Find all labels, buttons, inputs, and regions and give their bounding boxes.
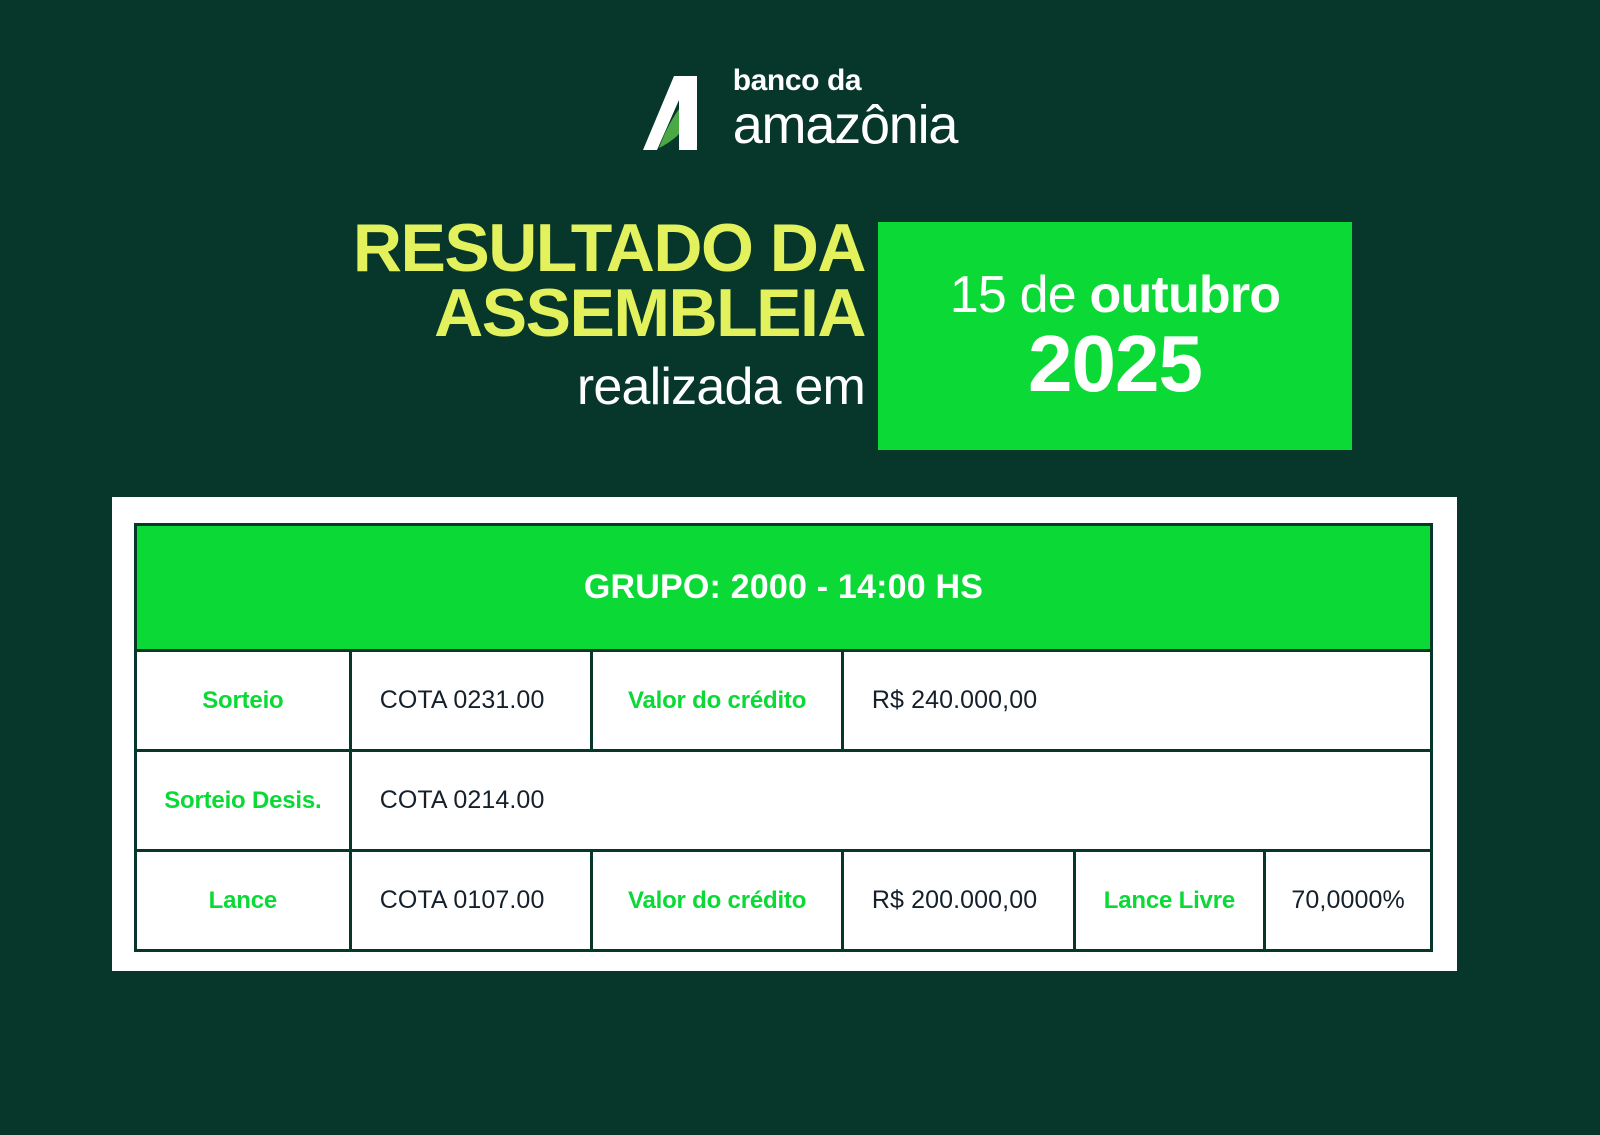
row-lance-credit-label: Valor do crédito: [592, 851, 843, 951]
page-title-line2: ASSEMBLEIA: [353, 281, 865, 346]
row-lance-credit-value: R$ 200.000,00: [842, 851, 1074, 951]
brand-logo-text: banco da amazônia: [733, 66, 958, 152]
page-title: RESULTADO DA ASSEMBLEIA: [353, 216, 865, 347]
assembly-result-poster: banco da amazônia RESULTADO DA ASSEMBLEI…: [0, 0, 1600, 1135]
row-sorteio-desis-cota: COTA 0214.00: [350, 751, 1431, 851]
brand-name-line1: banco da: [733, 66, 958, 96]
brand-logo: banco da amazônia: [0, 66, 1600, 152]
hero-heading-block: RESULTADO DA ASSEMBLEIA realizada em: [200, 216, 865, 456]
row-sorteio-credit-label: Valor do crédito: [592, 651, 843, 751]
brand-name-line2: amazônia: [733, 98, 958, 152]
results-table-frame: GRUPO: 2000 - 14:00 HS Sorteio COTA 0231…: [112, 497, 1457, 971]
row-lance-cota: COTA 0107.00: [350, 851, 592, 951]
page-subtitle: realizada em: [577, 357, 865, 417]
assembly-date-day-month: 15 de outubro: [950, 268, 1281, 323]
row-sorteio-label: Sorteio: [136, 651, 351, 751]
group-header-cell: GRUPO: 2000 - 14:00 HS: [136, 525, 1432, 651]
row-sorteio-credit-value: R$ 240.000,00: [842, 651, 1431, 751]
assembly-date-badge: 15 de outubro 2025: [878, 222, 1352, 450]
row-sorteio-cota: COTA 0231.00: [350, 651, 592, 751]
assembly-date-month: outubro: [1090, 266, 1281, 324]
table-row: Lance COTA 0107.00 Valor do crédito R$ 2…: [136, 851, 1432, 951]
row-lance-livre-label: Lance Livre: [1074, 851, 1265, 951]
assembly-date-day-prefix: 15 de: [950, 266, 1090, 324]
row-lance-label: Lance: [136, 851, 351, 951]
table-row: Sorteio Desis. COTA 0214.00: [136, 751, 1432, 851]
row-lance-livre-value: 70,0000%: [1265, 851, 1432, 951]
banco-da-amazonia-logo-icon: [643, 74, 719, 152]
results-table-header-row: GRUPO: 2000 - 14:00 HS: [136, 525, 1432, 651]
assembly-date-year: 2025: [1028, 324, 1202, 404]
page-title-line1: RESULTADO DA: [353, 216, 865, 281]
table-row: Sorteio COTA 0231.00 Valor do crédito R$…: [136, 651, 1432, 751]
results-table-body: GRUPO: 2000 - 14:00 HS Sorteio COTA 0231…: [136, 525, 1432, 951]
row-sorteio-desis-label: Sorteio Desis.: [136, 751, 351, 851]
hero-section: RESULTADO DA ASSEMBLEIA realizada em 15 …: [0, 216, 1600, 456]
results-table: GRUPO: 2000 - 14:00 HS Sorteio COTA 0231…: [134, 523, 1433, 952]
